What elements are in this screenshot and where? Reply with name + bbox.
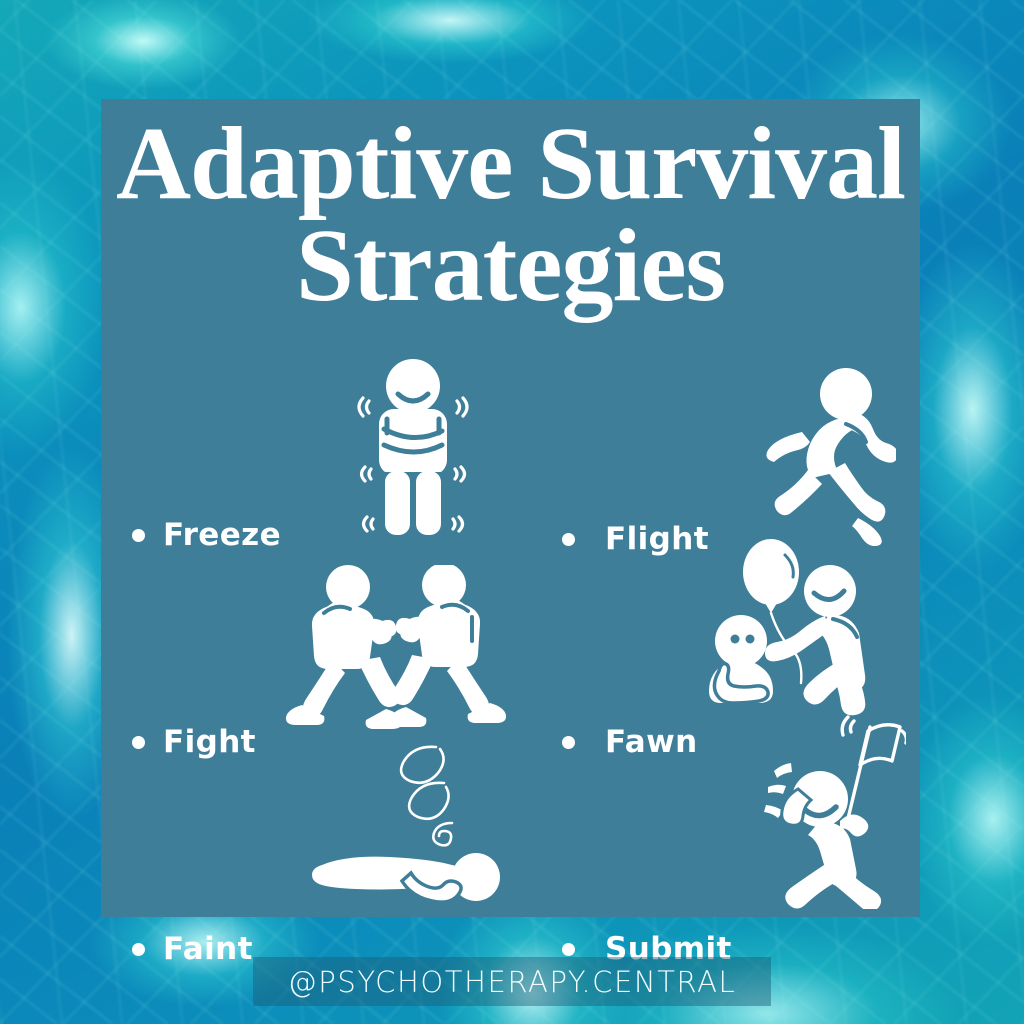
social-handle-text: @PSYCHOTHERAPY.CENTRAL [288,965,737,999]
bullet-icon [562,943,575,956]
person-arms-crossed-shivering-icon [351,357,475,542]
content-panel: Adaptive Survival Strategies Freeze [101,99,920,917]
social-handle-banner: @PSYCHOTHERAPY.CENTRAL [253,957,771,1006]
person-cowering-white-flag-icon [746,709,906,914]
list-item-label: Fight [163,724,256,760]
list-item-flight[interactable]: Flight [562,521,709,557]
person-lying-down-dizzy-spiral-icon [286,739,506,924]
list-item-label: Freeze [163,517,281,553]
list-item-freeze[interactable]: Freeze [132,517,281,553]
person-running-icon [746,366,896,551]
list-item-label: Flight [605,521,709,557]
title-line-2: Strategies [101,215,920,317]
two-people-boxing-icon [276,565,506,735]
adult-offering-balloon-to-child-icon [705,539,885,724]
list-item-fawn[interactable]: Fawn [562,724,698,760]
list-item-faint[interactable]: Faint [132,931,253,967]
bullet-icon [562,533,575,546]
list-item-fight[interactable]: Fight [132,724,256,760]
list-item-label: Faint [163,931,253,967]
bullet-icon [132,943,145,956]
list-item-label: Fawn [605,724,698,760]
title-line-1: Adaptive Survival [116,106,905,221]
infographic-canvas: Adaptive Survival Strategies Freeze [0,0,1024,1024]
bullet-icon [132,736,145,749]
bullet-icon [562,736,575,749]
page-title: Adaptive Survival Strategies [101,113,920,317]
bullet-icon [132,529,145,542]
